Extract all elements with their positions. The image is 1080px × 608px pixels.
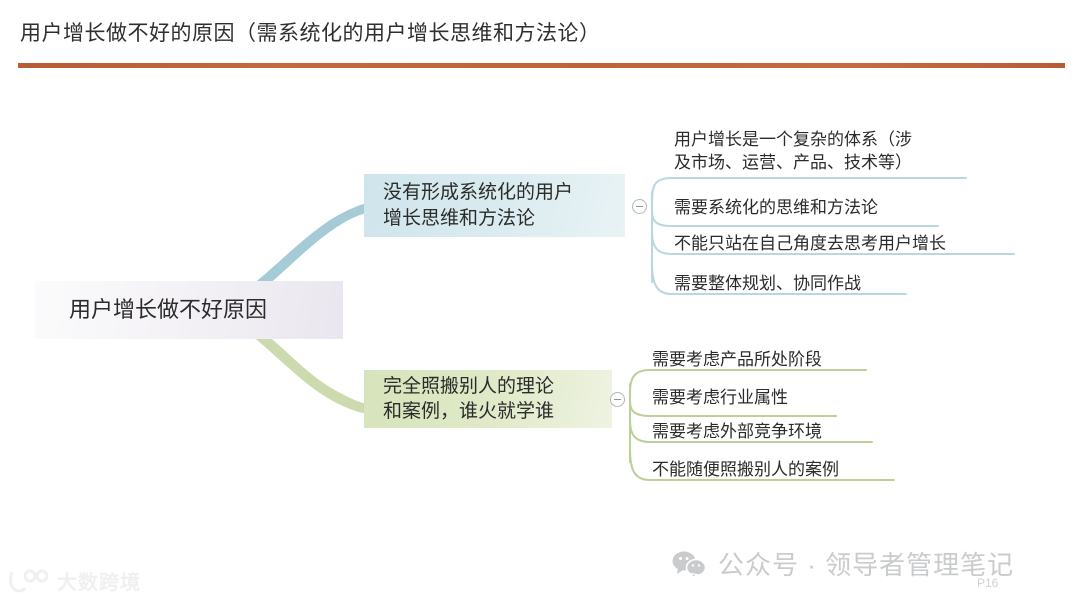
mindmap-branch-node-0[interactable]: 没有形成系统化的用户 增长思维和方法论 (364, 174, 625, 237)
branch-1-leaf-3[interactable]: 不能随便照搬别人的案例 (652, 458, 839, 481)
branch-node-1-label: 完全照搬别人的理论 和案例，谁火就学谁 (383, 374, 554, 425)
watermark: 大数跨境 (8, 566, 141, 595)
mindmap-root-node[interactable]: 用户增长做不好原因 (35, 281, 343, 339)
page-number: P16 (977, 576, 998, 590)
circle-minus-icon[interactable] (610, 392, 625, 407)
dashukuajing-logo-icon (8, 568, 50, 594)
branch-node-0-label: 没有形成系统化的用户 增长思维和方法论 (383, 180, 573, 231)
connector-root-to-branch-0 (248, 203, 368, 293)
footer-brand-label: 公众号 · 领导者管理笔记 (718, 545, 1014, 582)
root-node-label: 用户增长做不好原因 (69, 295, 267, 324)
watermark-label: 大数跨境 (57, 566, 141, 595)
mindmap-canvas: 用户增长做不好原因 没有形成系统化的用户 增长思维和方法论 用户增长是一个复杂的… (0, 0, 1080, 608)
branch-1-leaf-0[interactable]: 需要考虑产品所处阶段 (652, 348, 822, 371)
branch-0-leaf-1[interactable]: 需要系统化的思维和方法论 (674, 196, 878, 219)
branch-1-leaf-1[interactable]: 需要考虑行业属性 (652, 386, 788, 409)
wechat-icon (672, 550, 706, 578)
branch-1-leaf-2[interactable]: 需要考虑外部竞争环境 (652, 420, 822, 443)
circle-minus-icon[interactable] (632, 199, 647, 214)
branch-0-leaf-3[interactable]: 需要整体规划、协同作战 (674, 272, 861, 295)
branch-0-leaf-0[interactable]: 用户增长是一个复杂的体系（涉 及市场、运营、产品、技术等） (674, 128, 912, 175)
connector-root-to-branch-1 (248, 328, 368, 414)
mindmap-branch-node-1[interactable]: 完全照搬别人的理论 和案例，谁火就学谁 (364, 370, 612, 428)
footer-brand: 公众号 · 领导者管理笔记 (672, 545, 1014, 582)
branch-0-leaf-2[interactable]: 不能只站在自己角度去思考用户增长 (674, 232, 946, 255)
